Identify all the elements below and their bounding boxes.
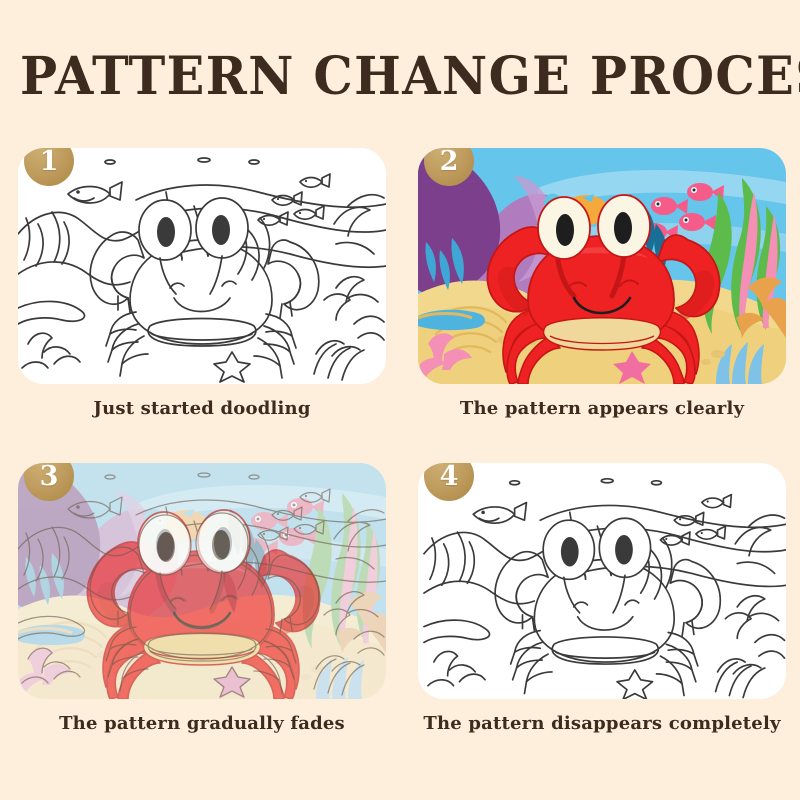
step-caption-4: The pattern disappears completely <box>418 713 786 734</box>
artwork-outline-1 <box>18 148 386 384</box>
artwork-frame-1: 1 <box>18 148 386 384</box>
artwork-outline-4 <box>418 463 786 699</box>
step-panel-3[interactable]: 3 <box>18 463 386 699</box>
artwork-frame-2: 2 <box>418 148 786 384</box>
step-panel-2[interactable]: 2 <box>418 148 786 384</box>
step-panel-1[interactable]: 1 <box>18 148 386 384</box>
artwork-frame-4: 4 <box>418 463 786 699</box>
page-title: PATTERN CHANGE PROCESS <box>20 48 780 106</box>
step-panel-4[interactable]: 4 <box>418 463 786 699</box>
step-caption-3: The pattern gradually fades <box>18 713 386 734</box>
poster-root: PATTERN CHANGE PROCESS <box>0 0 800 800</box>
step-caption-1: Just started doodling <box>18 398 386 419</box>
artwork-color-2 <box>418 148 786 384</box>
step-caption-2: The pattern appears clearly <box>418 398 786 419</box>
artwork-frame-3: 3 <box>18 463 386 699</box>
artwork-faded-3 <box>18 463 386 699</box>
